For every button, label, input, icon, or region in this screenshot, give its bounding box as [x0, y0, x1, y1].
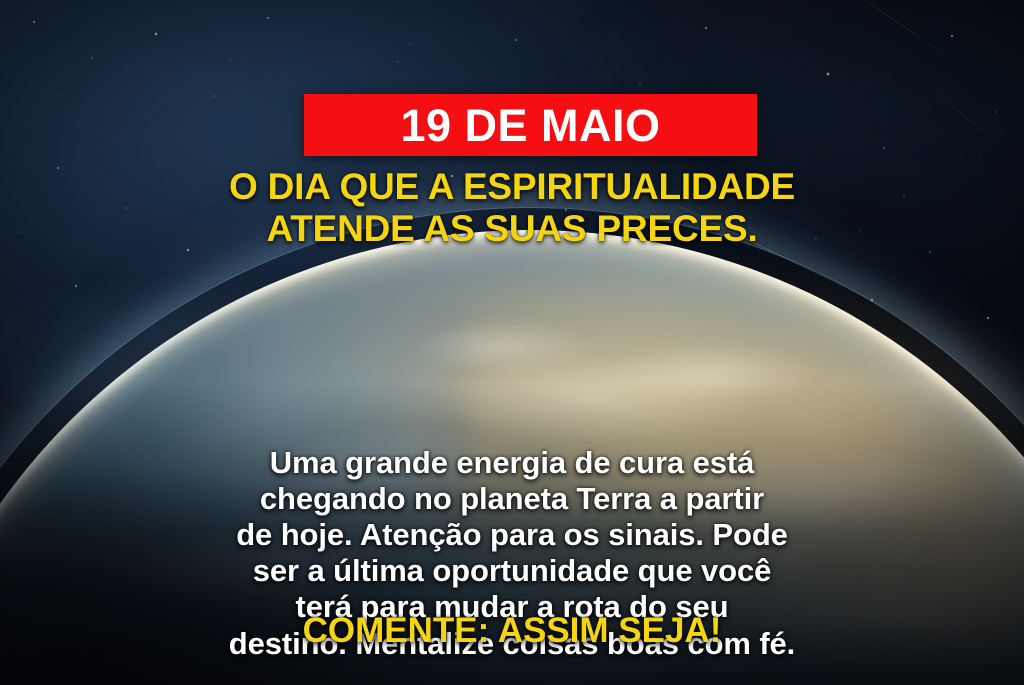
- poster-content: 19 DE MAIO O DIA QUE A ESPIRITUALIDADE A…: [0, 0, 1024, 685]
- headline: O DIA QUE A ESPIRITUALIDADE ATENDE AS SU…: [0, 166, 1024, 250]
- call-to-action: COMENTE: ASSIM SEJA!: [0, 612, 1024, 651]
- body-line-2: chegando no planeta Terra a partir: [48, 481, 976, 517]
- date-badge: 19 DE MAIO: [304, 94, 757, 156]
- poster-canvas: 19 DE MAIO O DIA QUE A ESPIRITUALIDADE A…: [0, 0, 1024, 685]
- body-line-1: Uma grande energia de cura está: [48, 445, 976, 481]
- headline-line-1: O DIA QUE A ESPIRITUALIDADE: [0, 166, 1024, 208]
- body-line-3: de hoje. Atenção para os sinais. Pode: [48, 517, 976, 553]
- body-line-4: ser a última oportunidade que você: [48, 553, 976, 589]
- date-badge-label: 19 DE MAIO: [400, 103, 660, 148]
- cta-label: COMENTE: ASSIM SEJA!: [303, 611, 722, 650]
- headline-line-2: ATENDE AS SUAS PRECES.: [0, 208, 1024, 250]
